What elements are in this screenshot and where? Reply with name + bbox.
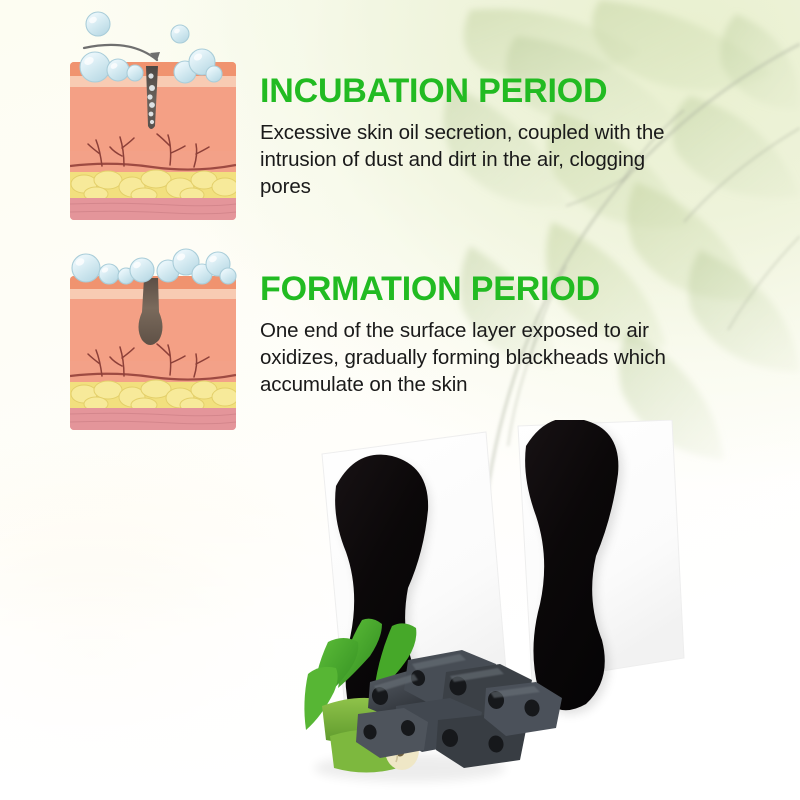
formation-body: One end of the surface layer exposed to …: [260, 317, 708, 399]
incubation-heading: INCUBATION PERIOD: [260, 74, 680, 110]
section-incubation: INCUBATION PERIOD Excessive skin oil sec…: [260, 74, 680, 200]
product-infographic-page: INCUBATION PERIOD Excessive skin oil sec…: [0, 0, 800, 800]
incubation-body: Excessive skin oil secretion, coupled wi…: [260, 119, 680, 201]
skin-diagram-incubation: [62, 4, 244, 226]
fat-layer: [70, 170, 238, 202]
product-photo: [300, 420, 800, 800]
formation-heading: FORMATION PERIOD: [260, 272, 708, 308]
skin-diagram-formation: [62, 240, 244, 436]
section-formation: FORMATION PERIOD One end of the surface …: [260, 272, 708, 398]
fat-layer: [70, 380, 238, 412]
